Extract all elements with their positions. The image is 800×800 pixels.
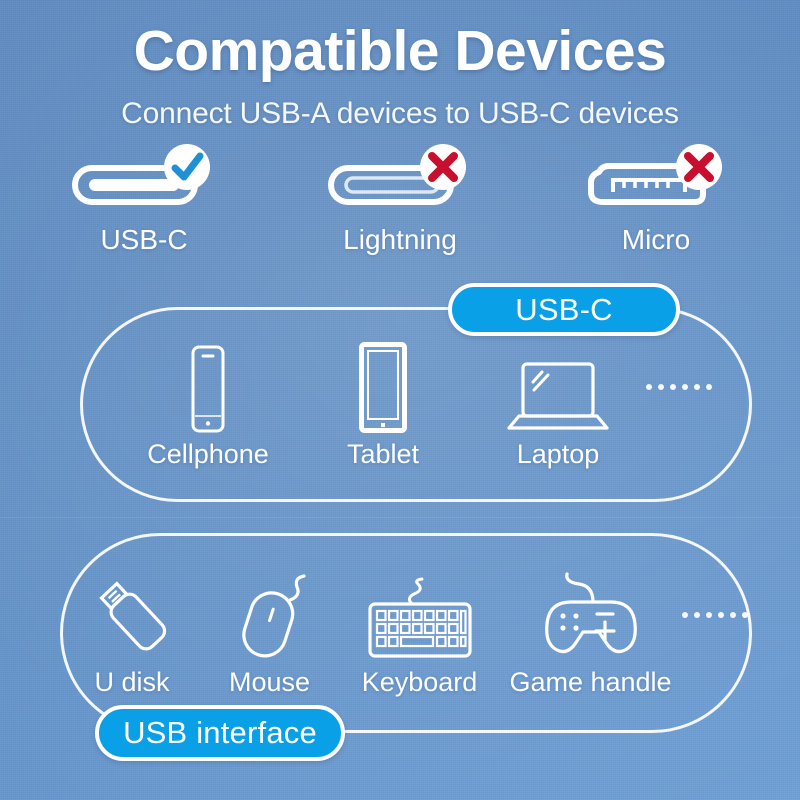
connector-item-usb-c: USB-C — [54, 148, 234, 256]
usb-c-device-card: Cellphone Tablet — [80, 307, 752, 502]
connector-item-lightning: Lightning — [310, 148, 490, 256]
badge-usb-c: USB-C — [448, 283, 680, 336]
device-tablet: Tablet — [296, 342, 471, 468]
connector-item-micro: Micro — [566, 148, 746, 256]
device-keyboard: Keyboard — [340, 570, 500, 696]
more-devices-indicator — [646, 384, 712, 390]
device-laptop: Laptop — [471, 342, 646, 468]
device-mouse: Mouse — [200, 570, 340, 696]
badge-label: USB interface — [123, 715, 317, 751]
connector-label: Lightning — [343, 224, 457, 256]
page-title: Compatible Devices — [0, 18, 800, 84]
device-label: Tablet — [347, 441, 419, 468]
device-label: Laptop — [517, 441, 600, 468]
usb-c-connector-icon — [69, 148, 219, 220]
connector-label: USB-C — [100, 224, 187, 256]
badge-usb-interface: USB interface — [95, 705, 345, 761]
connector-label: Micro — [622, 224, 690, 256]
usb-interface-device-card: U disk Mouse — [60, 533, 752, 733]
lightning-connector-icon — [325, 148, 475, 220]
gamepad-icon — [535, 570, 647, 662]
page-subtitle: Connect USB-A devices to USB-C devices — [0, 97, 800, 131]
device-label: Game handle — [509, 669, 671, 696]
usb-c-device-list: Cellphone Tablet — [83, 310, 749, 499]
device-label: Keyboard — [362, 669, 478, 696]
connector-compatibility-row: USB-C Lightning — [0, 148, 800, 256]
keyboard-icon — [364, 570, 476, 662]
device-cellphone: Cellphone — [121, 342, 296, 468]
laptop-icon — [503, 342, 613, 434]
cross-badge-icon — [676, 144, 722, 190]
device-u-disk: U disk — [65, 570, 200, 696]
more-devices-indicator — [682, 612, 748, 618]
check-badge-icon — [164, 144, 210, 190]
device-label: Cellphone — [147, 441, 269, 468]
cross-badge-icon — [420, 144, 466, 190]
micro-usb-connector-icon — [581, 148, 731, 220]
badge-label: USB-C — [515, 292, 612, 328]
usb-interface-device-list: U disk Mouse — [63, 536, 749, 730]
usb-flash-drive-icon — [90, 570, 174, 662]
cellphone-icon — [180, 342, 236, 434]
mouse-icon — [227, 570, 313, 662]
device-label: Mouse — [229, 669, 310, 696]
device-label: U disk — [94, 669, 169, 696]
device-game-handle: Game handle — [500, 570, 682, 696]
tablet-icon — [348, 342, 418, 434]
compatible-devices-poster: Compatible Devices Connect USB-A devices… — [0, 0, 800, 800]
